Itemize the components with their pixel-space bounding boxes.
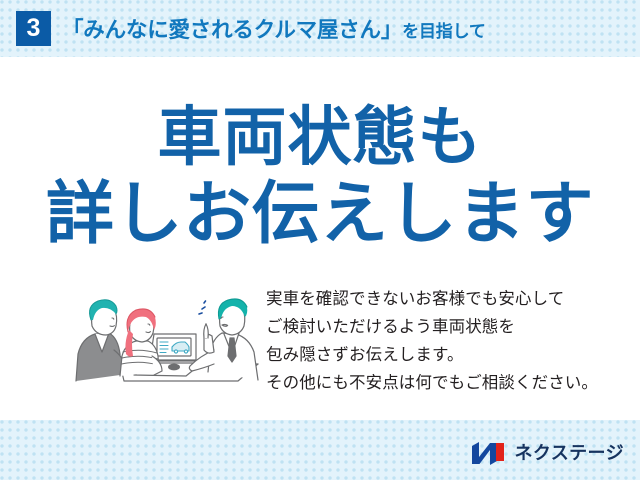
headline: 車両状態も 詳しお伝えします (0, 98, 640, 252)
header-title-tail: を目指して (402, 17, 486, 42)
body-copy-line-2: ご検討いただけるよう車両状態を (266, 313, 626, 341)
body-copy-line-4: その他にも不安点は何でもご相談ください。 (266, 369, 626, 397)
headline-line-1: 車両状態も (0, 98, 640, 176)
body-copy-line-3: 包み隠さずお伝えします。 (266, 341, 626, 369)
header: 3 「みんなに愛されるクルマ屋さん」 を目指して (0, 0, 640, 57)
advertisement-poster: 3 「みんなに愛されるクルマ屋さん」 を目指して 車両状態も 詳しお伝えします (0, 0, 640, 480)
body-copy-line-1: 実車を確認できないお客様でも安心して (266, 285, 626, 313)
brand-lockup: ネクステージ (470, 438, 625, 468)
body-copy: 実車を確認できないお客様でも安心して ご検討いただけるよう車両状態を 包み隠さず… (266, 285, 626, 397)
header-title: 「みんなに愛されるクルマ屋さん」 を目指して (62, 13, 486, 44)
headline-line-2: 詳しお伝えします (0, 176, 640, 252)
consultation-illustration (62, 276, 262, 394)
brand-name: ネクステージ (515, 444, 625, 462)
consultation-illustration-svg (62, 276, 262, 394)
step-number-badge: 3 (16, 11, 51, 46)
header-title-main: 「みんなに愛されるクルマ屋さん」 (62, 13, 402, 44)
nextage-n-logo-icon (470, 440, 508, 467)
